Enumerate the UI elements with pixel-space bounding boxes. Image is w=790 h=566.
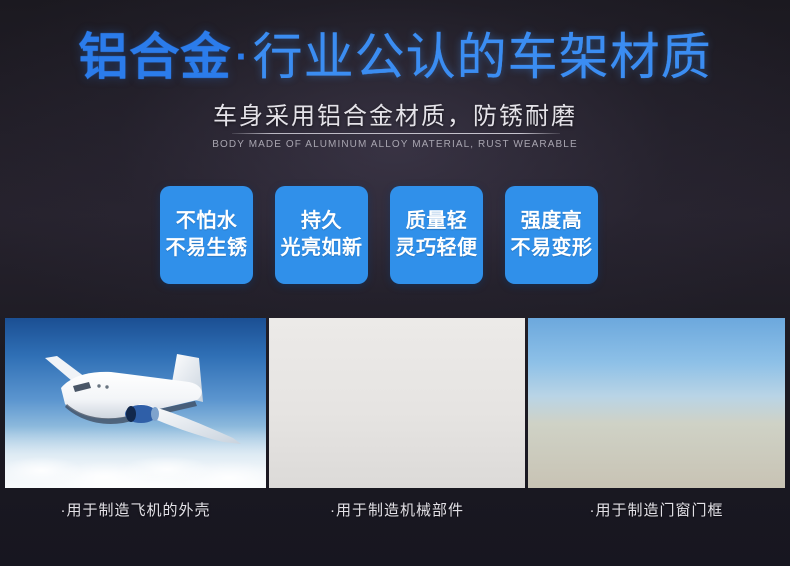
caption-airplane: ·用于制造飞机的外壳 [5, 496, 266, 522]
badge-line-1: 质量轻 [406, 210, 468, 234]
page-title: 铝合金·行业公认的车架材质 [0, 32, 790, 82]
promo-banner: 铝合金·行业公认的车架材质 车身采用铝合金材质，防锈耐磨 BODY MADE O… [0, 0, 790, 566]
headline-strong: 铝合金 [78, 29, 231, 85]
badge-line-2: 灵巧轻便 [396, 237, 478, 261]
headline-light: 行业公认的车架材质 [253, 29, 712, 85]
badge-line-1: 不怕水 [176, 210, 238, 234]
badge-line-2: 不易变形 [511, 237, 593, 261]
feature-badge-strength[interactable]: 强度高 不易变形 [505, 186, 598, 284]
feature-badge-durable[interactable]: 持久 光亮如新 [275, 186, 368, 284]
hero-section: 铝合金·行业公认的车架材质 车身采用铝合金材质，防锈耐磨 BODY MADE O… [0, 0, 790, 300]
caption-machined-parts: ·用于制造机械部件 [269, 496, 525, 522]
gallery-caption-row: ·用于制造飞机的外壳 ·用于制造机械部件 ·用于制造门窗门框 [5, 496, 785, 522]
caption-windows: ·用于制造门窗门框 [528, 496, 785, 522]
airplane-illustration [27, 346, 257, 456]
badge-line-1: 强度高 [521, 210, 583, 234]
badge-line-2: 光亮如新 [281, 237, 363, 261]
building-background [528, 318, 785, 488]
subheadline: 车身采用铝合金材质，防锈耐磨 [0, 96, 790, 131]
aluminum-windows-photo [528, 318, 785, 488]
feature-badge-lightweight[interactable]: 质量轻 灵巧轻便 [390, 186, 483, 284]
machined-parts-photo [269, 318, 525, 488]
badge-line-2: 不易生锈 [166, 237, 248, 261]
gallery-strip [5, 318, 785, 488]
feature-badge-list: 不怕水 不易生锈 持久 光亮如新 质量轻 灵巧轻便 强度高 不易变形 [160, 186, 600, 284]
divider-rule [232, 133, 560, 134]
feature-badge-waterproof[interactable]: 不怕水 不易生锈 [160, 186, 253, 284]
headline-separator: · [231, 35, 252, 79]
badge-line-1: 持久 [301, 210, 342, 234]
parts-background [269, 318, 525, 488]
airplane-photo [5, 318, 266, 488]
english-tagline: BODY MADE OF ALUMINUM ALLOY MATERIAL, RU… [0, 139, 790, 150]
